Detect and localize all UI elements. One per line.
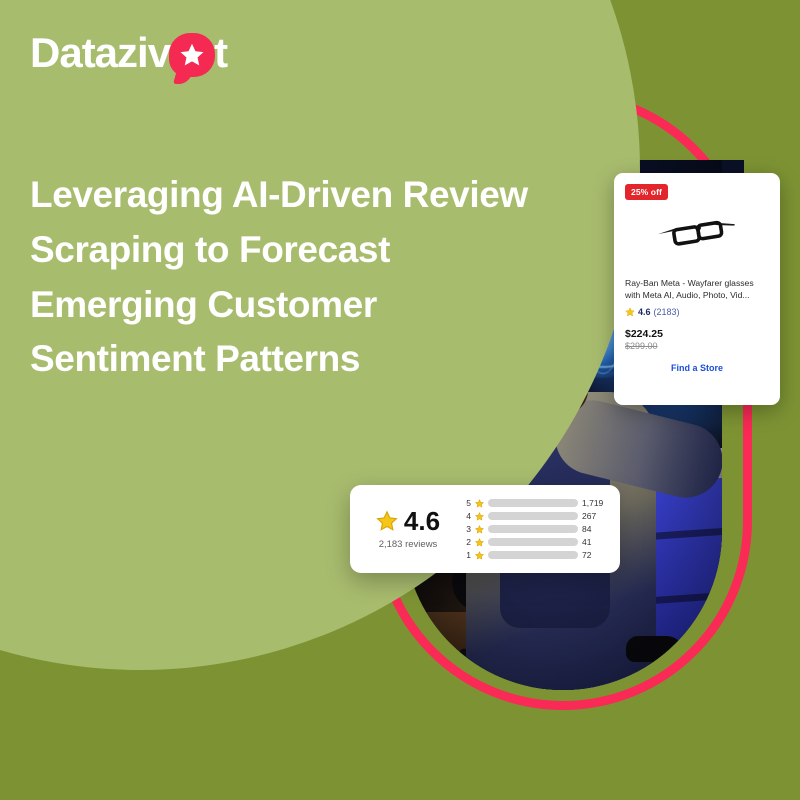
product-card[interactable]: 25% off Ray-Ban Meta - Wayfarer glasses … [614,173,780,405]
product-rating-count: (2183) [654,307,680,317]
brand-name-prefix: Dataziv [30,32,170,74]
ratings-average-row: 4.6 [362,508,454,534]
discount-badge: 25% off [625,184,668,200]
rating-bar-row[interactable]: 51,719 [464,498,608,508]
rating-bar-row[interactable]: 384 [464,524,608,534]
star-icon [475,512,484,521]
headline-line-1: Leveraging AI-Driven Review [30,168,550,223]
brand-logo[interactable]: Dataziv t [30,24,227,82]
rating-star-level: 4 [464,511,471,521]
rating-bar-row[interactable]: 172 [464,550,608,560]
ratings-average-value: 4.6 [404,508,440,534]
product-title: Ray-Ban Meta - Wayfarer glasses with Met… [625,278,769,302]
ratings-review-count: 2,183 reviews [362,539,454,550]
product-price: $224.25 [625,328,769,340]
rating-bar-track [488,551,578,559]
rating-bar-track [488,499,578,507]
rating-star-level: 5 [464,498,471,508]
rating-bar-count: 1,719 [582,498,608,508]
rating-bar-count: 84 [582,524,608,534]
rating-bar-track [488,512,578,520]
rating-bar-row[interactable]: 4267 [464,511,608,521]
rating-bar-count: 267 [582,511,608,521]
ratings-distribution: 51,7194267384241172 [464,498,608,560]
find-a-store-link[interactable]: Find a Store [625,363,769,373]
product-old-price: $299.00 [625,341,769,351]
poster-canvas: Dataziv t Leveraging AI-Driven Review Sc… [0,0,800,800]
rating-bar-count: 41 [582,537,608,547]
rating-star-level: 2 [464,537,471,547]
ratings-average-block: 4.6 2,183 reviews [362,508,454,550]
headline-line-2: Scraping to Forecast [30,223,550,278]
product-rating-score: 4.6 [638,307,651,317]
eyeglasses-icon [625,202,769,264]
headline-line-3: Emerging Customer [30,278,550,333]
page-title: Leveraging AI-Driven Review Scraping to … [30,168,550,387]
rating-star-level: 3 [464,524,471,534]
product-rating: 4.6 (2183) [625,307,769,317]
rating-bar-track [488,538,578,546]
star-icon [475,499,484,508]
rating-bar-row[interactable]: 241 [464,537,608,547]
star-icon [625,307,635,317]
speech-bubble-star-icon [169,33,215,77]
star-icon [475,538,484,547]
headline-line-4: Sentiment Patterns [30,332,550,387]
rating-star-level: 1 [464,550,471,560]
ratings-summary-widget: 4.6 2,183 reviews 51,7194267384241172 [350,485,620,573]
star-icon [475,551,484,560]
rating-bar-track [488,525,578,533]
brand-name-suffix: t [214,32,227,74]
star-icon [475,525,484,534]
star-icon [376,510,398,532]
rating-bar-count: 72 [582,550,608,560]
